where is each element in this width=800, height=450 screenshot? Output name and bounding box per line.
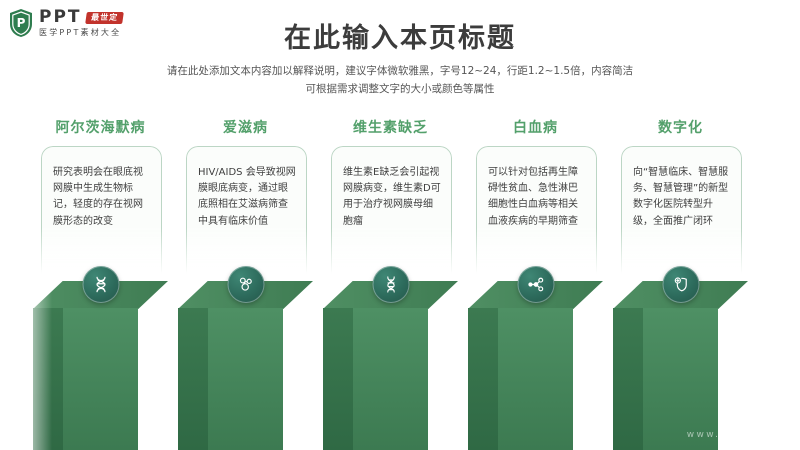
dna-icon[interactable]	[372, 266, 409, 303]
subtitle-line-2: 可根据需求调整文字的大小或颜色等属性	[0, 80, 800, 98]
pedestal-left-face	[613, 308, 643, 450]
column-heading: 阿尔茨海默病	[33, 118, 168, 138]
content-column[interactable]: 维生素缺乏 维生素E缺乏会引起视网膜病变，维生素D可用于治疗视网膜母细胞瘤	[323, 118, 458, 450]
pedestal	[323, 281, 458, 450]
pedestal	[613, 281, 748, 450]
description-card: 维生素E缺乏会引起视网膜病变，维生素D可用于治疗视网膜母细胞瘤	[331, 146, 452, 275]
pedestal-right-face	[208, 308, 283, 450]
column-body-text: 研究表明会在眼底视网膜中生成生物标记，轻度的存在视网膜形态的改变	[53, 165, 152, 230]
column-heading: 爱滋病	[178, 118, 313, 138]
column-body-text: 维生素E缺乏会引起视网膜病变，维生素D可用于治疗视网膜母细胞瘤	[343, 165, 442, 230]
column-body-text: 可以针对包括再生障碍性贫血、急性淋巴细胞性白血病等相关血液疾病的早期筛查	[488, 165, 587, 230]
molecule-node-icon[interactable]	[517, 266, 554, 303]
column-heading: 白血病	[468, 118, 603, 138]
pedestal-left-face	[468, 308, 498, 450]
description-card: 研究表明会在眼底视网膜中生成生物标记，轻度的存在视网膜形态的改变	[41, 146, 162, 275]
content-column[interactable]: 数字化 向“智慧临床、智慧服务、智慧管理”的新型数字化医院转型升级，全面推广闭环	[613, 118, 748, 450]
pedestal	[178, 281, 313, 450]
pedestal	[468, 281, 603, 450]
pedestal-right-face	[498, 308, 573, 450]
pedestal-right-face	[643, 308, 718, 450]
content-columns: 阿尔茨海默病 研究表明会在眼底视网膜中生成生物标记，轻度的存在视网膜形态的改变 …	[0, 118, 800, 450]
content-column[interactable]: 阿尔茨海默病 研究表明会在眼底视网膜中生成生物标记，轻度的存在视网膜形态的改变	[33, 118, 168, 450]
description-card: 向“智慧临床、智慧服务、智慧管理”的新型数字化医院转型升级，全面推广闭环	[621, 146, 742, 275]
description-card: 可以针对包括再生障碍性贫血、急性淋巴细胞性白血病等相关血液疾病的早期筛查	[476, 146, 597, 275]
page-title: 在此输入本页标题	[0, 16, 800, 55]
stethoscope-shield-icon[interactable]	[662, 266, 699, 303]
column-heading: 数字化	[613, 118, 748, 138]
pedestal-right-face	[63, 308, 138, 450]
watermark: www.pptx.com	[687, 430, 782, 440]
content-column[interactable]: 白血病 可以针对包括再生障碍性贫血、急性淋巴细胞性白血病等相关血液疾病的早期筛查	[468, 118, 603, 450]
subtitle-line-1: 请在此处添加文本内容加以解释说明，建议字体微软雅黑，字号12~24，行距1.2~…	[0, 62, 800, 80]
page-subtitle: 请在此处添加文本内容加以解释说明，建议字体微软雅黑，字号12~24，行距1.2~…	[0, 62, 800, 99]
pedestal-left-face	[323, 308, 353, 450]
pedestal-left-face	[33, 308, 63, 450]
column-body-text: 向“智慧临床、智慧服务、智慧管理”的新型数字化医院转型升级，全面推广闭环	[633, 165, 732, 230]
pedestal	[33, 281, 168, 450]
content-column[interactable]: 爱滋病 HIV/AIDS 会导致视网膜眼底病变，通过眼底照相在艾滋病筛查中具有临…	[178, 118, 313, 450]
column-heading: 维生素缺乏	[323, 118, 458, 138]
pedestal-right-face	[353, 308, 428, 450]
molecule-cluster-icon[interactable]	[227, 266, 264, 303]
dna-icon[interactable]	[82, 266, 119, 303]
pedestal-left-face	[178, 308, 208, 450]
column-body-text: HIV/AIDS 会导致视网膜眼底病变，通过眼底照相在艾滋病筛查中具有临床价值	[198, 165, 297, 230]
slide-canvas: P PPT 最世定 医学PPT素材大全 在此输入本页标题 请在此处添加文本内容加…	[0, 0, 800, 450]
description-card: HIV/AIDS 会导致视网膜眼底病变，通过眼底照相在艾滋病筛查中具有临床价值	[186, 146, 307, 275]
